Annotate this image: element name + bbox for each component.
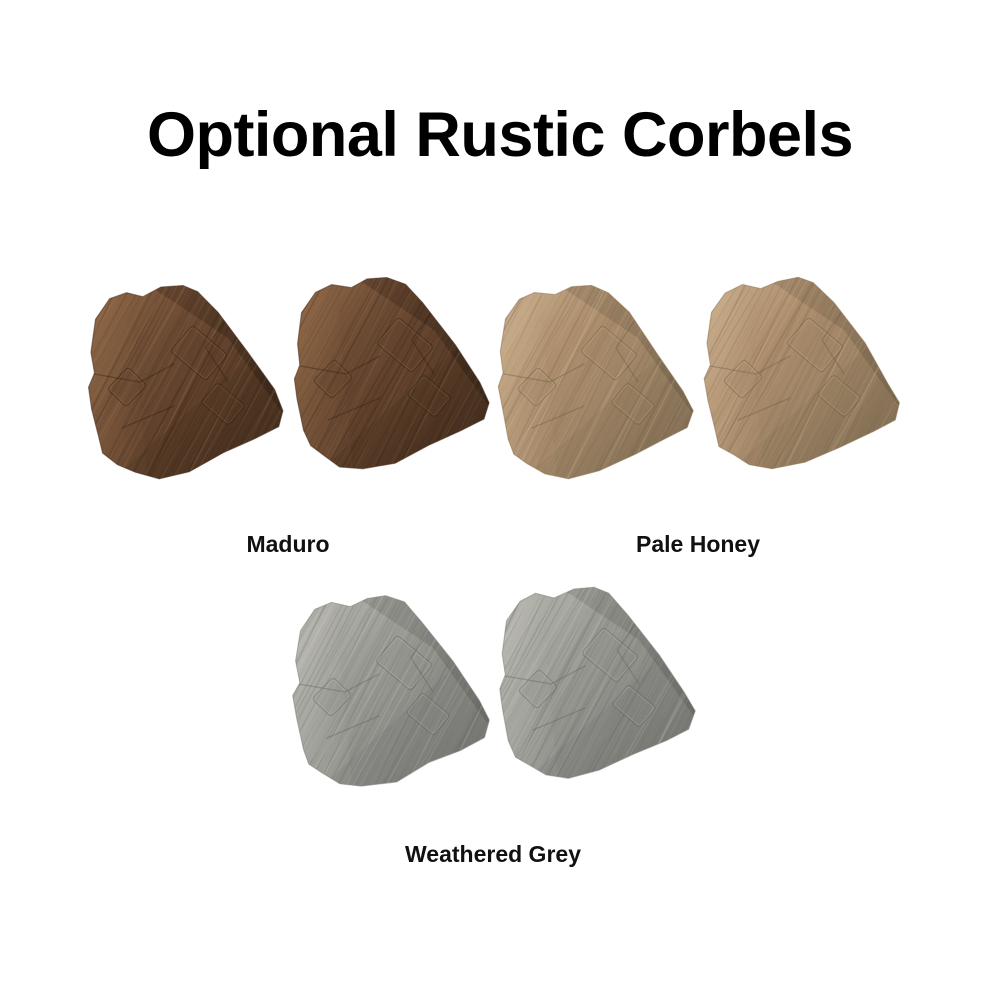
swatch-label-pale-honey: Pale Honey (488, 530, 908, 558)
page-title: Optional Rustic Corbels (0, 100, 1000, 170)
swatch-group-pale-honey: Pale Honey (488, 268, 908, 568)
swatch-label-weathered-grey: Weathered Grey (283, 840, 703, 868)
swatch-group-maduro: Maduro (78, 268, 498, 568)
corbel-wedge-icon (78, 278, 288, 488)
swatch-label-maduro: Maduro (78, 530, 498, 558)
corbel-maduro-1 (78, 278, 288, 488)
corbel-weathered-grey-1 (283, 588, 493, 798)
corbel-pale-honey-1 (488, 278, 698, 488)
corbel-weathered-grey-2 (489, 580, 699, 790)
corbel-wedge-icon (694, 270, 904, 480)
swatch-group-weathered-grey: Weathered Grey (283, 578, 703, 878)
corbel-wedge-icon (284, 270, 494, 480)
corbel-wedge-icon (489, 580, 699, 790)
corbel-wedge-icon (488, 278, 698, 488)
corbel-wedge-icon (283, 588, 493, 798)
product-image-canvas: Optional Rustic Corbels Maduro Pale Hone… (0, 0, 1000, 1000)
corbel-maduro-2 (284, 270, 494, 480)
corbel-pale-honey-2 (694, 270, 904, 480)
